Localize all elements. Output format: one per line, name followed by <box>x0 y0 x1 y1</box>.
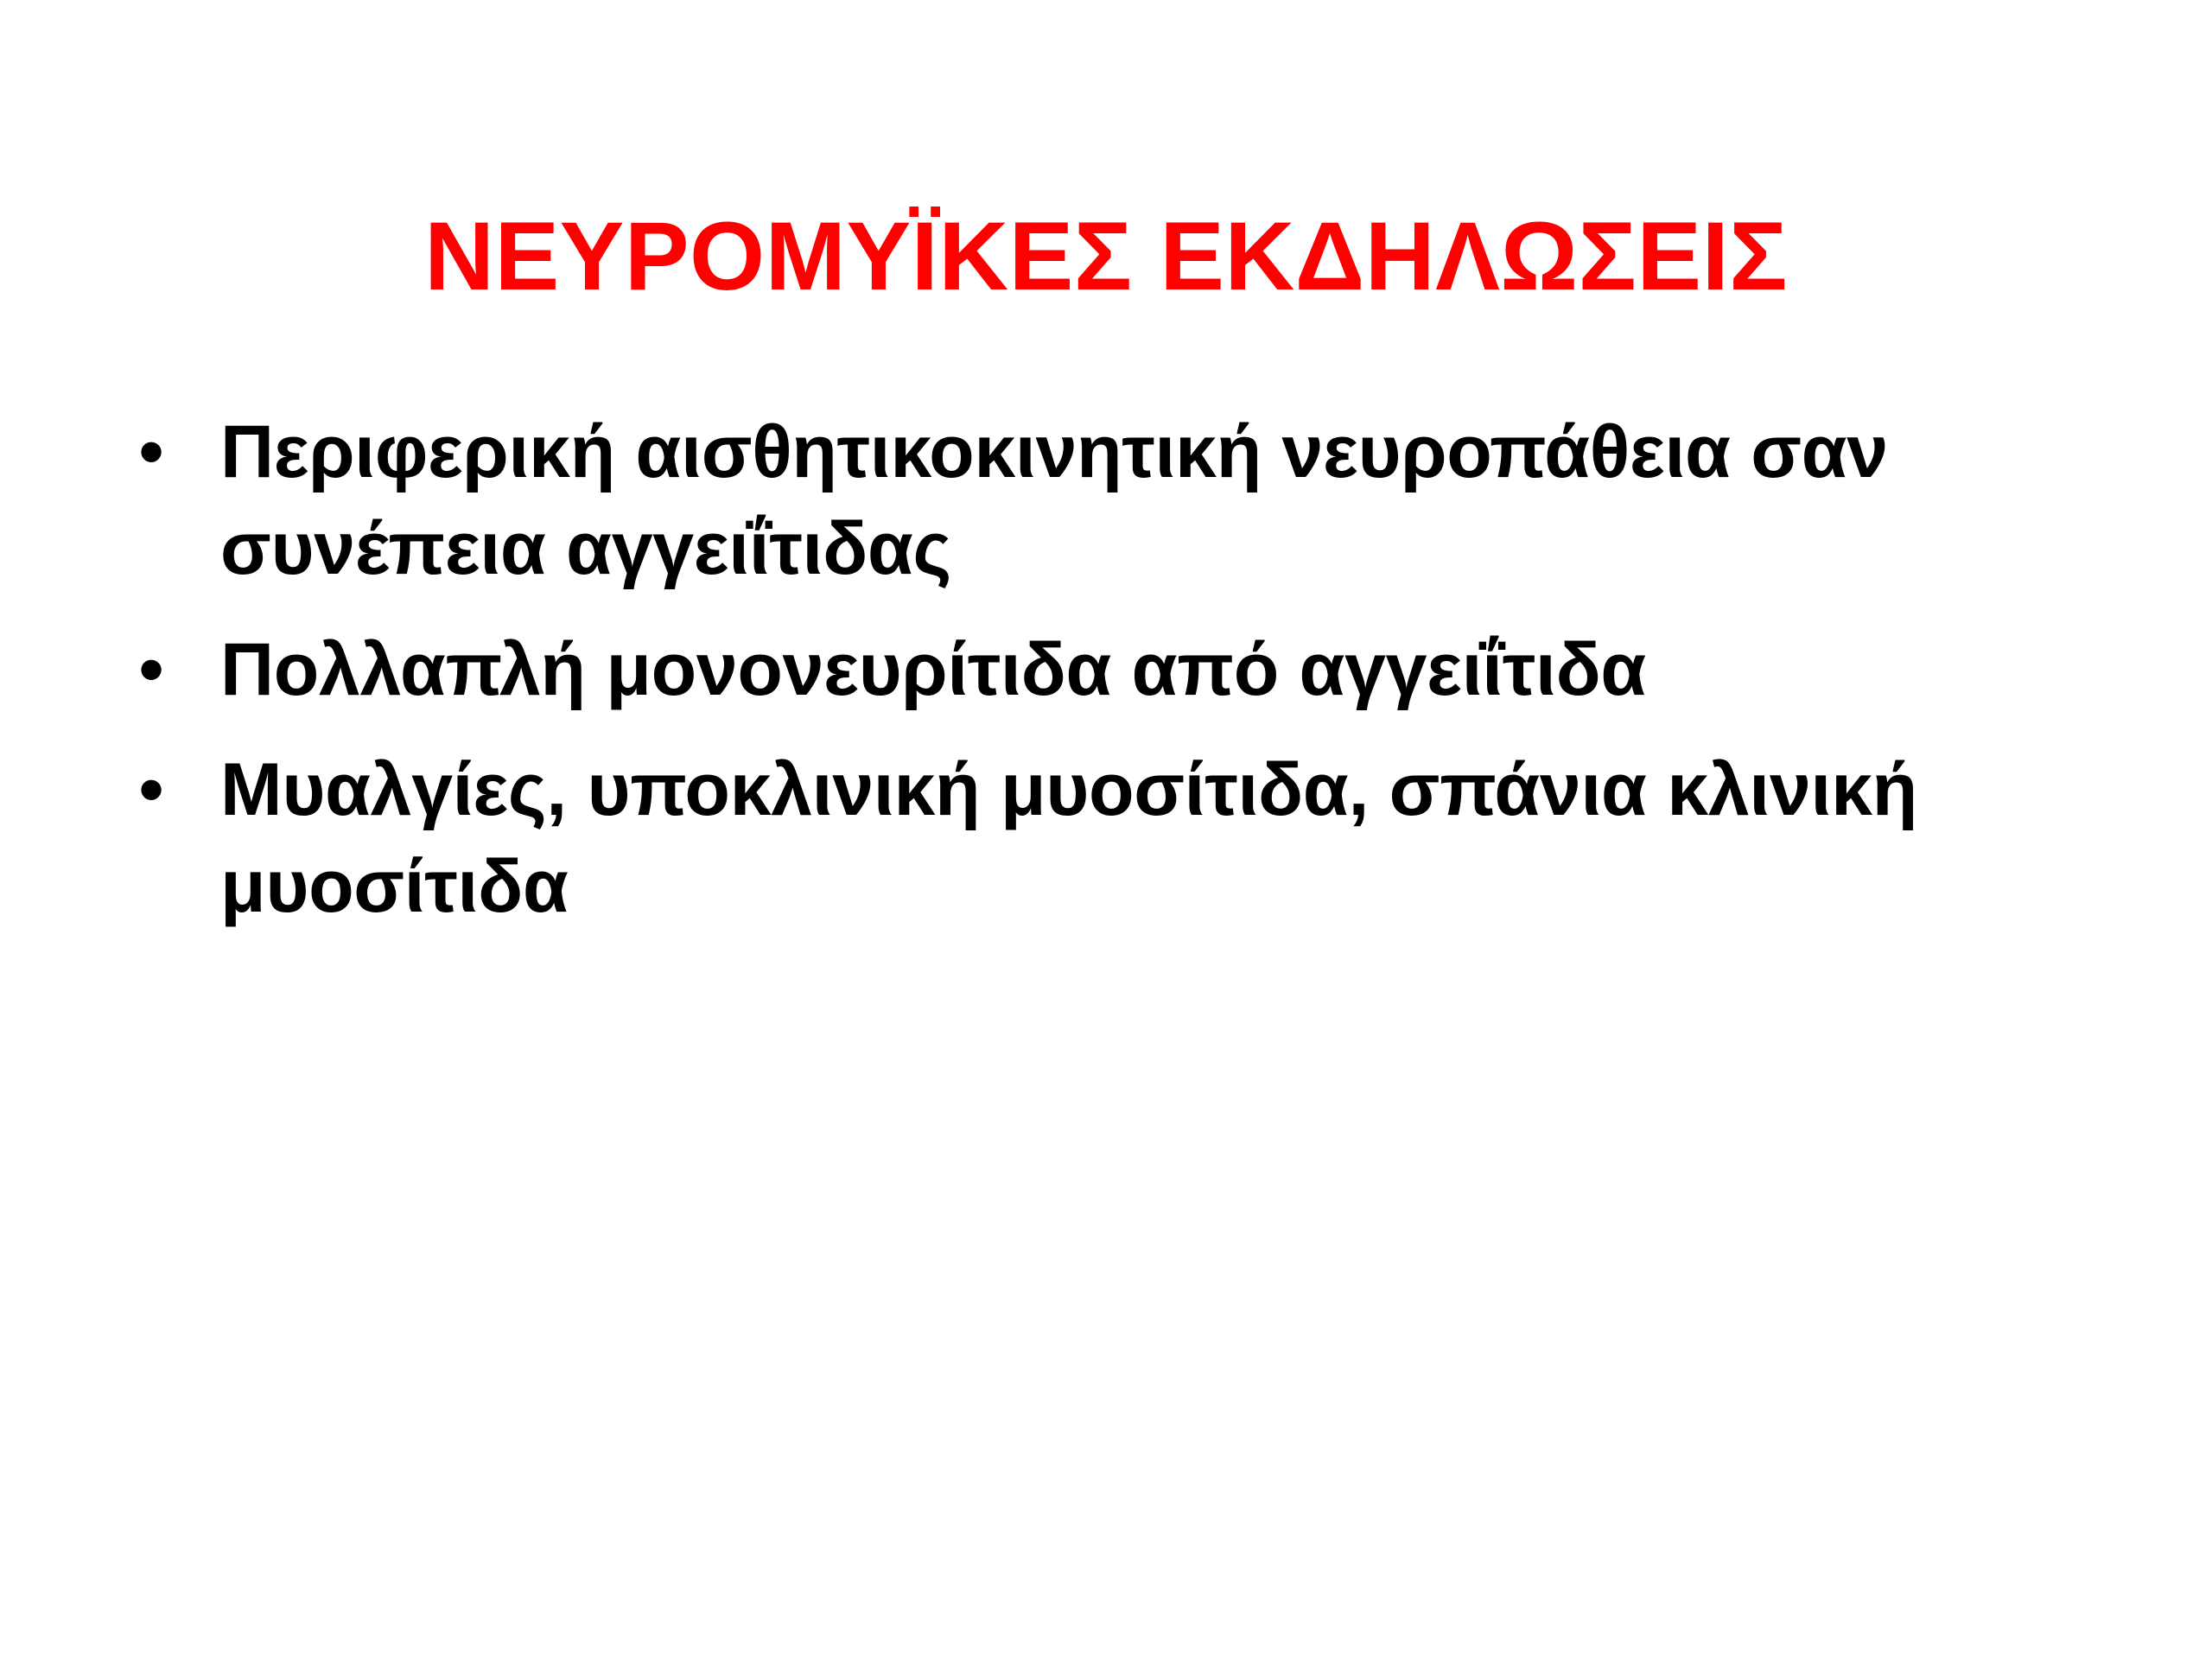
presentation-slide: ΝΕΥΡΟΜΥΪΚΕΣ ΕΚΔΗΛΩΣΕΙΣ • Περιφερική αισθ… <box>0 0 2212 1659</box>
bullet-point-icon: • <box>138 622 190 719</box>
list-item-label: Πολλαπλή μονονευρίτιδα από αγγειΐτιδα <box>220 622 2117 719</box>
page-title: ΝΕΥΡΟΜΥΪΚΕΣ ΕΚΔΗΛΩΣΕΙΣ <box>0 203 2212 309</box>
list-item: • Περιφερική αισθητικοκινητική νευροπάθε… <box>130 404 2117 598</box>
bullet-point-icon: • <box>138 742 190 839</box>
bullet-point-icon: • <box>138 404 190 501</box>
list-item: • Μυαλγίες, υποκλινική μυοσίτιδα, σπάνια… <box>130 742 2117 936</box>
bullet-list: • Περιφερική αισθητικοκινητική νευροπάθε… <box>130 404 2117 936</box>
list-item-label: Περιφερική αισθητικοκινητική νευροπάθεια… <box>220 404 2117 598</box>
list-item: • Πολλαπλή μονονευρίτιδα από αγγειΐτιδα <box>130 622 2117 719</box>
list-item-label: Μυαλγίες, υποκλινική μυοσίτιδα, σπάνια κ… <box>220 742 2117 936</box>
